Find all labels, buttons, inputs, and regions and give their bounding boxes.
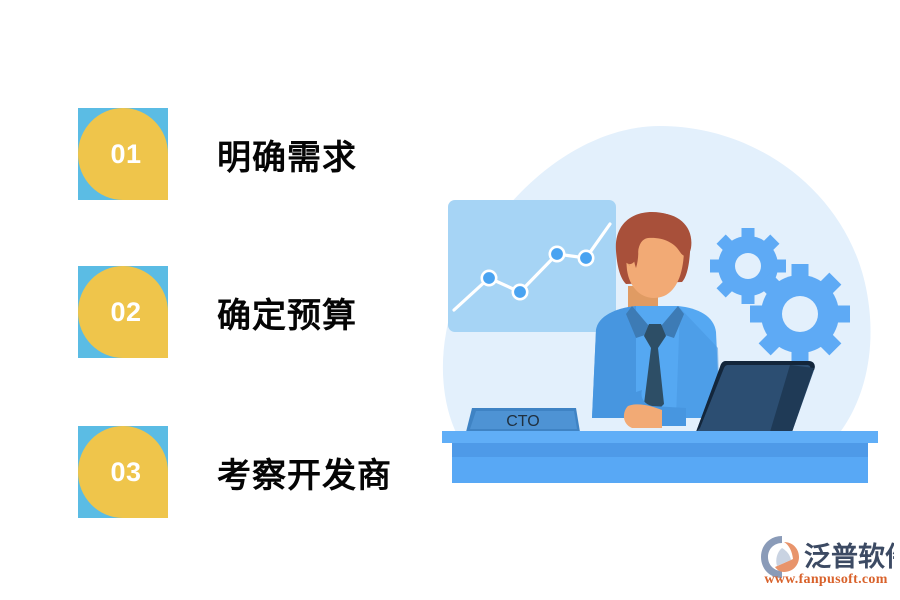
step-number: 02 — [78, 266, 168, 358]
step-number: 03 — [78, 426, 168, 518]
chart-dot — [550, 247, 564, 261]
desk-top — [442, 431, 878, 443]
slide-root: 01 明确需求 02 确定预算 03 考察开发商 — [0, 0, 900, 600]
chart-dot — [513, 285, 527, 299]
step-item-2[interactable]: 02 确定预算 — [78, 266, 438, 358]
step-label: 考察开发商 — [217, 448, 392, 497]
step-item-1[interactable]: 01 明确需求 — [78, 108, 438, 200]
desk-front — [452, 457, 868, 483]
chart-dot — [579, 251, 593, 265]
step-label: 确定预算 — [217, 288, 357, 337]
step-item-3[interactable]: 03 考察开发商 — [78, 426, 438, 518]
desk — [442, 431, 878, 483]
cto-at-desk-illustration: CTO — [430, 118, 890, 488]
step-badge-2: 02 — [78, 266, 168, 358]
step-list: 01 明确需求 02 确定预算 03 考察开发商 — [0, 0, 440, 600]
logo-url-text: www.fanpusoft.com — [764, 572, 887, 586]
line-chart-board — [448, 200, 616, 332]
cto-nameplate: CTO — [466, 408, 580, 432]
cto-nameplate-text: CTO — [506, 413, 539, 430]
step-badge-1: 01 — [78, 108, 168, 200]
chart-dot — [482, 271, 496, 285]
gear-large-icon — [750, 264, 850, 364]
step-badge-3: 03 — [78, 426, 168, 518]
fanpusoft-logo[interactable]: 泛普软件 www.fanpusoft.com — [758, 528, 894, 586]
logo-brand-text: 泛普软件 — [804, 541, 894, 573]
step-number: 01 — [78, 108, 168, 200]
step-label: 明确需求 — [217, 130, 357, 179]
desk-edge — [452, 443, 868, 457]
